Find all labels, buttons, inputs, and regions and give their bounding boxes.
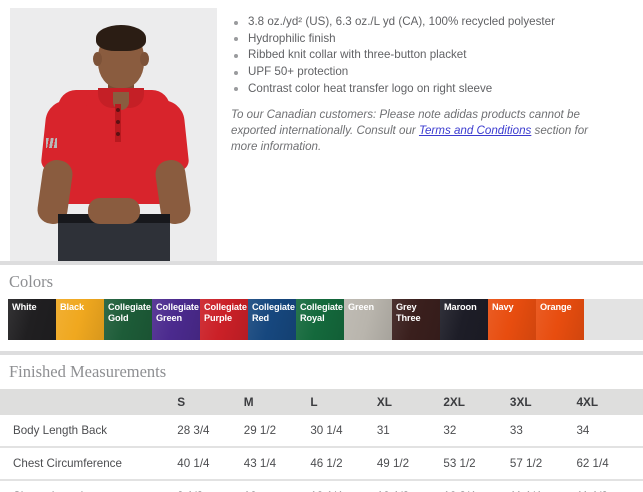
column-header-s: S: [177, 389, 244, 415]
list-item: Ribbed knit collar with three-button pla…: [231, 47, 639, 63]
color-swatch-green[interactable]: Green: [344, 299, 392, 340]
cell-m: 43 1/4: [244, 447, 311, 480]
finished-measurements-table: S M L XL 2XL 3XL 4XL Body Length Back 28…: [0, 389, 643, 492]
model-ear-right: [140, 52, 149, 66]
color-swatch-collegiate-royal[interactable]: Collegiate Royal: [296, 299, 344, 340]
color-swatch-orange[interactable]: Orange: [536, 299, 584, 340]
swatch-label: White: [12, 302, 54, 313]
column-header-4xl: 4XL: [576, 389, 643, 415]
swatch-label: Grey Three: [396, 302, 438, 323]
cell-s: 9 1/2: [177, 480, 244, 492]
cell-m: 29 1/2: [244, 415, 311, 447]
color-swatch-white[interactable]: White: [8, 299, 56, 340]
model-ear-left: [93, 52, 102, 66]
color-swatch-list: White Black Collegiate Gold Collegiate G…: [8, 299, 643, 340]
cell-l: 10 1/4: [310, 480, 377, 492]
column-header-xl: XL: [377, 389, 444, 415]
column-header-l: L: [310, 389, 377, 415]
color-swatch-grey-three[interactable]: Grey Three: [392, 299, 440, 340]
cell-4xl: 62 1/4: [576, 447, 643, 480]
table-body: Body Length Back 28 3/4 29 1/2 30 1/4 31…: [0, 415, 643, 492]
cell-3xl: 11 1/4: [510, 480, 577, 492]
swatch-label: Collegiate Green: [156, 302, 198, 323]
cell-l: 46 1/2: [310, 447, 377, 480]
product-photo-red-polo[interactable]: [10, 8, 217, 261]
swatch-label: Green: [348, 302, 390, 313]
cell-xl: 49 1/2: [377, 447, 444, 480]
color-swatch-navy[interactable]: Navy: [488, 299, 536, 340]
cell-4xl: 11 1/2: [576, 480, 643, 492]
placket-button-1: [116, 108, 120, 112]
table-row: Body Length Back 28 3/4 29 1/2 30 1/4 31…: [0, 415, 643, 447]
cell-2xl: 32: [443, 415, 510, 447]
cell-xl: 31: [377, 415, 444, 447]
cell-4xl: 34: [576, 415, 643, 447]
swatch-label: Maroon: [444, 302, 486, 313]
placket-button-2: [116, 120, 120, 124]
placket-button-3: [116, 132, 120, 136]
table-header: S M L XL 2XL 3XL 4XL: [0, 389, 643, 415]
table-header-row: S M L XL 2XL 3XL 4XL: [0, 389, 643, 415]
cell-2xl: 10 3/4: [443, 480, 510, 492]
cell-l: 30 1/4: [310, 415, 377, 447]
list-item: UPF 50+ protection: [231, 64, 639, 80]
column-header-3xl: 3XL: [510, 389, 577, 415]
column-header-measurement: [0, 389, 177, 415]
list-item: 3.8 oz./yd² (US), 6.3 oz./L yd (CA), 100…: [231, 14, 639, 30]
cell-s: 28 3/4: [177, 415, 244, 447]
model-hair: [96, 25, 146, 51]
color-swatch-collegiate-green[interactable]: Collegiate Green: [152, 299, 200, 340]
swatch-label: Collegiate Royal: [300, 302, 342, 323]
cell-xl: 10 1/2: [377, 480, 444, 492]
list-item: Hydrophilic finish: [231, 31, 639, 47]
finished-measurements-heading: Finished Measurements: [0, 355, 643, 389]
table-row: Sleeve Length 9 1/2 10 10 1/4 10 1/2 10 …: [0, 480, 643, 492]
terms-and-conditions-link[interactable]: Terms and Conditions: [419, 124, 531, 137]
swatch-label: Collegiate Red: [252, 302, 294, 323]
swatch-label: Collegiate Gold: [108, 302, 150, 323]
column-header-2xl: 2XL: [443, 389, 510, 415]
canadian-customers-note: To our Canadian customers: Please note a…: [231, 107, 603, 156]
color-swatch-maroon[interactable]: Maroon: [440, 299, 488, 340]
product-detail-page: 3.8 oz./yd² (US), 6.3 oz./L yd (CA), 100…: [0, 0, 643, 492]
cell-m: 10: [244, 480, 311, 492]
product-features: 3.8 oz./yd² (US), 6.3 oz./L yd (CA), 100…: [217, 8, 643, 261]
color-swatch-collegiate-purple[interactable]: Collegiate Purple: [200, 299, 248, 340]
color-swatch-collegiate-red[interactable]: Collegiate Red: [248, 299, 296, 340]
color-swatch-collegiate-gold[interactable]: Collegiate Gold: [104, 299, 152, 340]
row-label: Body Length Back: [0, 415, 177, 447]
cell-3xl: 57 1/2: [510, 447, 577, 480]
swatch-label: Orange: [540, 302, 582, 313]
cell-s: 40 1/4: [177, 447, 244, 480]
list-item: Contrast color heat transfer logo on rig…: [231, 81, 639, 97]
feature-list: 3.8 oz./yd² (US), 6.3 oz./L yd (CA), 100…: [231, 14, 639, 97]
row-label: Chest Circumference: [0, 447, 177, 480]
product-overview-section: 3.8 oz./yd² (US), 6.3 oz./L yd (CA), 100…: [0, 0, 643, 261]
model-hands: [88, 198, 140, 224]
column-header-m: M: [244, 389, 311, 415]
color-swatch-black[interactable]: Black: [56, 299, 104, 340]
table-row: Chest Circumference 40 1/4 43 1/4 46 1/2…: [0, 447, 643, 480]
cell-2xl: 53 1/2: [443, 447, 510, 480]
adidas-logo-icon: [46, 138, 57, 148]
cell-3xl: 33: [510, 415, 577, 447]
swatch-label: Collegiate Purple: [204, 302, 246, 323]
row-label: Sleeve Length: [0, 480, 177, 492]
colors-heading: Colors: [0, 265, 643, 299]
swatch-label: Black: [60, 302, 102, 313]
swatch-label: Navy: [492, 302, 534, 313]
